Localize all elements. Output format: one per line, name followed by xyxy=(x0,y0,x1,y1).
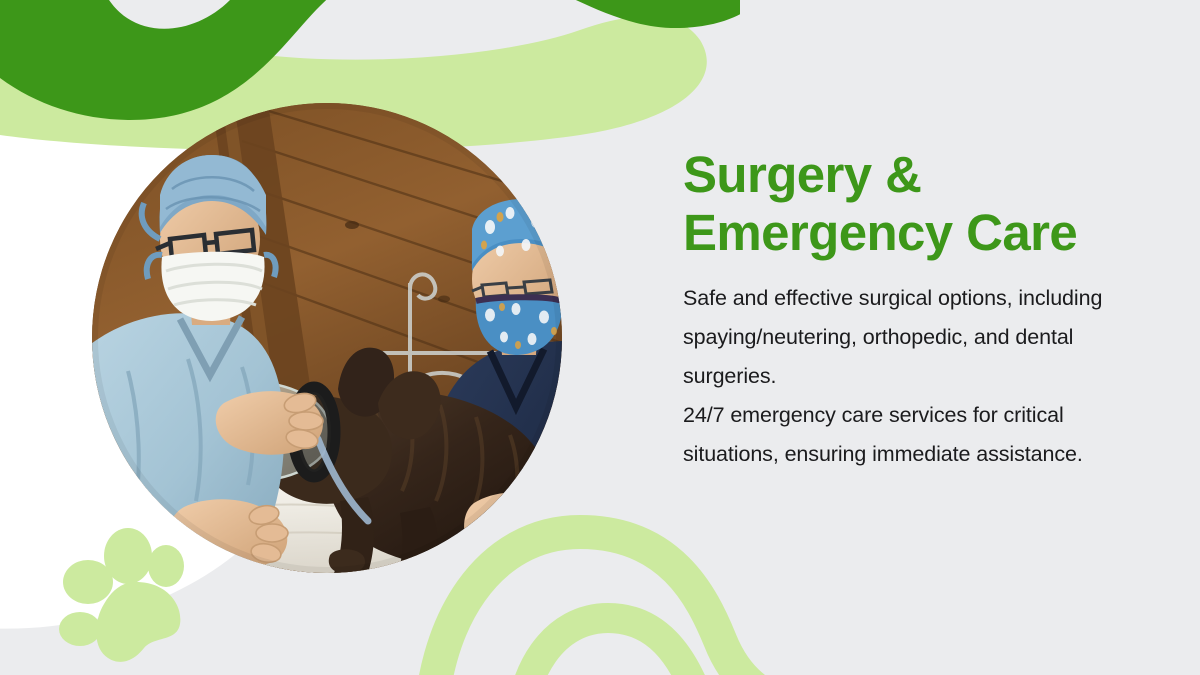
photo-illustration xyxy=(92,103,562,573)
body-paragraph-1: Safe and effective surgical options, inc… xyxy=(683,279,1103,396)
scrub-logo xyxy=(530,487,556,515)
wristwatch xyxy=(487,529,554,572)
page-title: Surgery & Emergency Care xyxy=(683,146,1103,262)
hand-with-watch xyxy=(464,492,562,573)
body-paragraph-2: 24/7 emergency care services for critica… xyxy=(683,396,1103,474)
photo-surgery-team xyxy=(92,103,562,573)
text-column: Surgery & Emergency Care Safe and effect… xyxy=(683,146,1103,474)
paw-print-icon xyxy=(58,524,228,664)
light-green-wave-bottom-decoration xyxy=(390,500,1150,675)
body-copy: Safe and effective surgical options, inc… xyxy=(683,279,1103,475)
slide-canvas: Surgery & Emergency Care Safe and effect… xyxy=(0,0,1200,675)
